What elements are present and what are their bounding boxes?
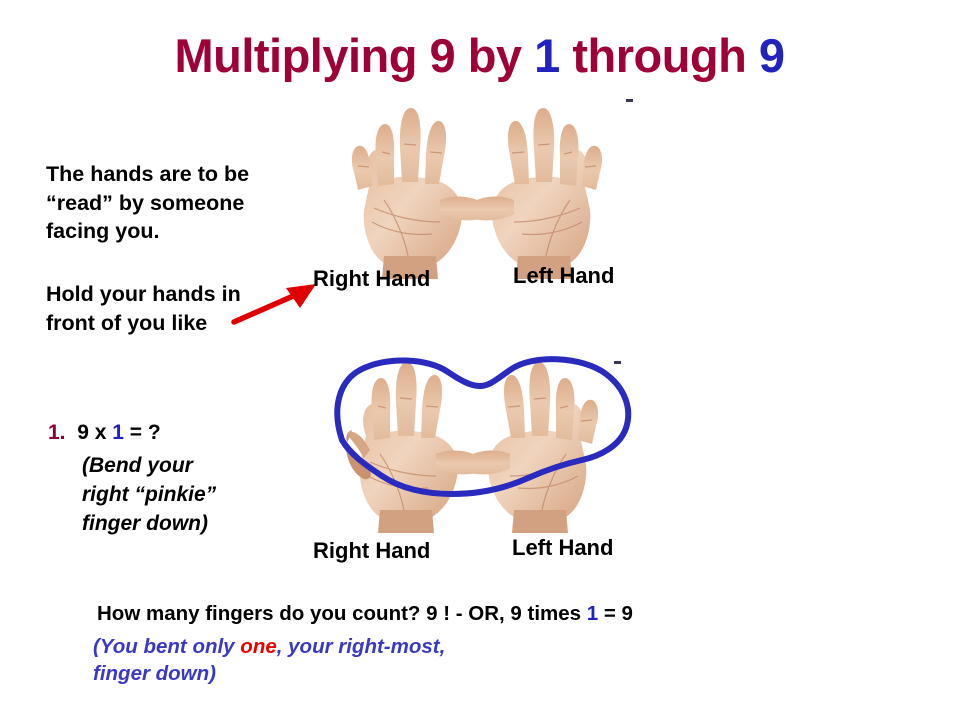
title-part-1: Multiplying 9 by: [174, 29, 534, 82]
hands-image-all-fingers-up: [312, 104, 642, 279]
answer-line: How many fingers do you count? 9 ! - OR,…: [97, 602, 633, 626]
title-part-2: through: [560, 29, 759, 82]
scan-speck-artifact: [614, 361, 621, 364]
hand-label-left-bottom: Left Hand: [512, 535, 613, 561]
problem-expr-before: 9 x: [77, 421, 112, 444]
answer-text-before: How many fingers do you count? 9 ! - OR,…: [97, 602, 587, 625]
problem-multiplier: 1: [112, 421, 124, 444]
page-title: Multiplying 9 by 1 through 9: [0, 28, 959, 83]
hand-label-right-bottom: Right Hand: [313, 538, 430, 564]
problem-instruction-note: (Bend your right “pinkie” finger down): [82, 452, 216, 539]
scan-speck-artifact: [626, 99, 633, 102]
slide-canvas: Multiplying 9 by 1 through 9 The hands a…: [0, 0, 959, 719]
problem-number: 1.: [48, 421, 66, 444]
hand-label-left-top: Left Hand: [513, 263, 614, 289]
answer-explanation-note: (You bent only one, your right-most, fin…: [93, 633, 445, 688]
problem-expr-after: = ?: [124, 421, 161, 444]
title-blue-nine: 9: [759, 29, 785, 82]
answer-note-before: (You bent only: [93, 635, 240, 658]
left-hand-graphic: [467, 108, 603, 279]
intro-instruction-text: The hands are to be “read” by someone fa…: [46, 160, 306, 246]
title-blue-one: 1: [534, 29, 560, 82]
answer-note-highlight: one: [240, 635, 276, 658]
problem-expression: 1. 9 x 1 = ?: [48, 421, 161, 445]
blue-hand-drawn-loop-annotation: [320, 348, 640, 508]
answer-text-after: = 9: [598, 602, 633, 625]
answer-multiplier: 1: [587, 602, 598, 625]
hand-label-right-top: Right Hand: [313, 266, 430, 292]
arrow-up-right-icon: [228, 272, 324, 332]
right-hand-graphic: [352, 108, 488, 279]
